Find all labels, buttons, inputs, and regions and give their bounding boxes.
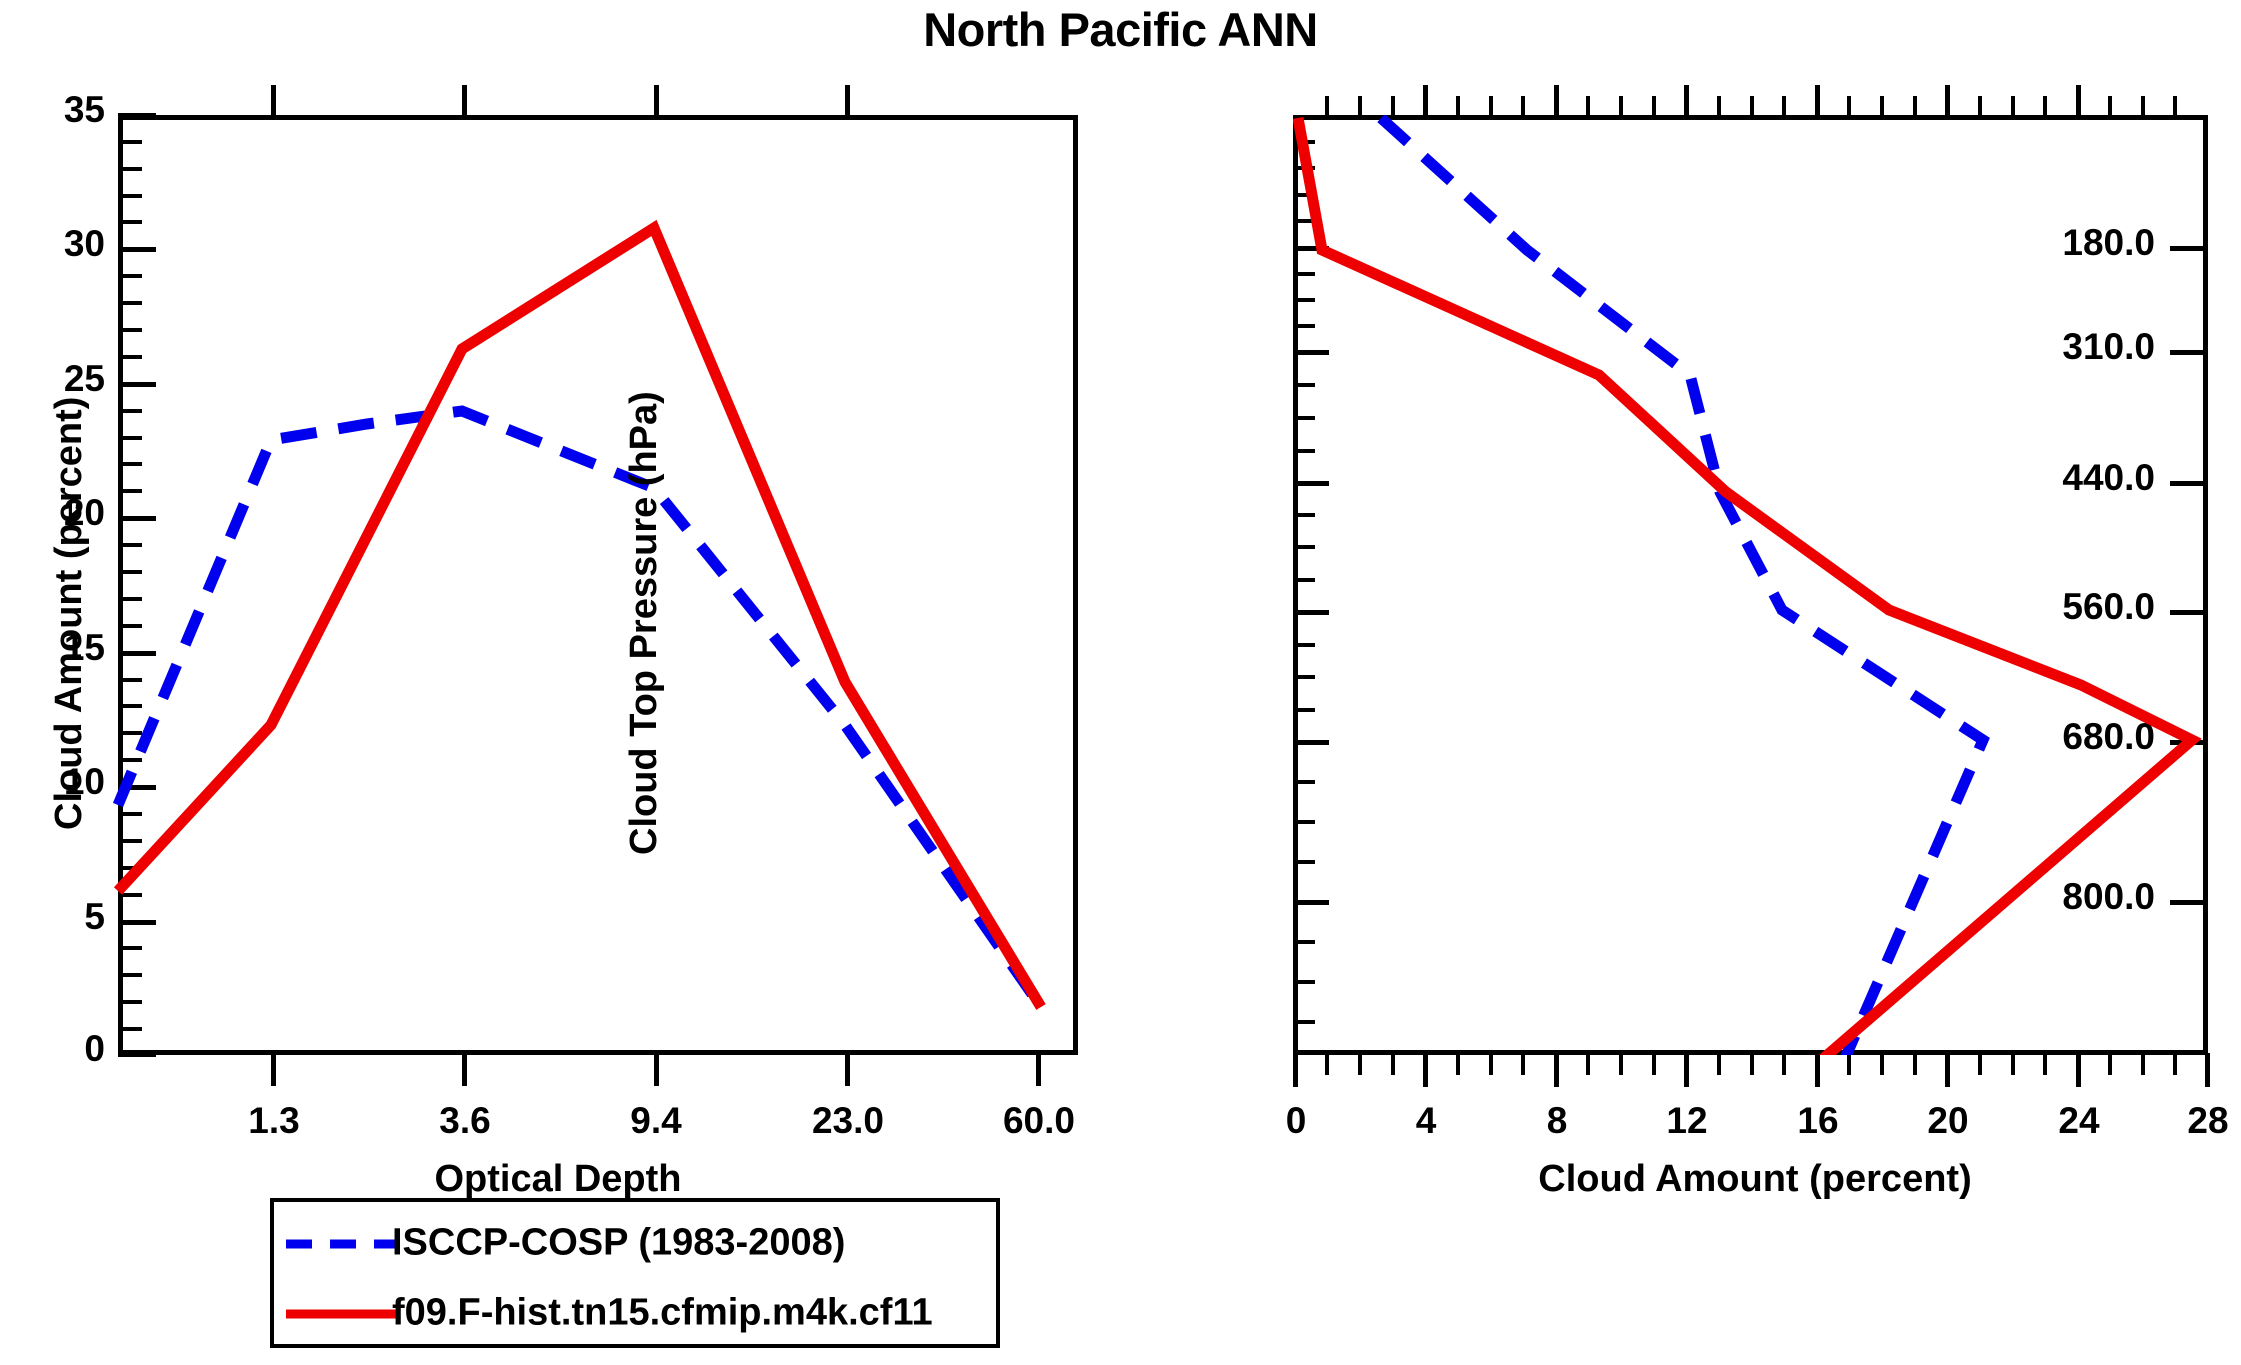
right-series-isccp <box>1381 118 1983 1070</box>
chart-canvas: North Pacific ANN <box>0 0 2241 1365</box>
left-panel-curves <box>0 0 1120 1365</box>
left-panel: 35 30 25 20 15 10 5 0 1.3 3.6 9.4 23.0 6… <box>0 0 1120 1365</box>
legend-box: ISCCP-COSP (1983-2008) f09.F-hist.tn15.c… <box>270 1198 1000 1348</box>
legend-label-model: f09.F-hist.tn15.cfmip.m4k.cf11 <box>392 1292 933 1335</box>
legend-item-isccp[interactable]: ISCCP-COSP (1983-2008) <box>274 1212 996 1276</box>
right-y-axis-title: Cloud Top Pressure (hPa) <box>623 391 666 855</box>
legend-label-isccp: ISCCP-COSP (1983-2008) <box>392 1222 845 1265</box>
legend-item-model[interactable]: f09.F-hist.tn15.cfmip.m4k.cf11 <box>274 1282 996 1346</box>
legend-swatch-dashed-icon <box>286 1240 396 1249</box>
right-series-model <box>1298 118 2192 1070</box>
right-panel-curves <box>1120 0 2241 1365</box>
right-panel: 180.0 310.0 440.0 560.0 680.0 800.0 <box>1120 0 2241 1365</box>
left-series-model <box>118 228 1041 1007</box>
left-series-isccp <box>118 411 1041 1007</box>
legend-swatch-solid-icon <box>286 1310 396 1319</box>
